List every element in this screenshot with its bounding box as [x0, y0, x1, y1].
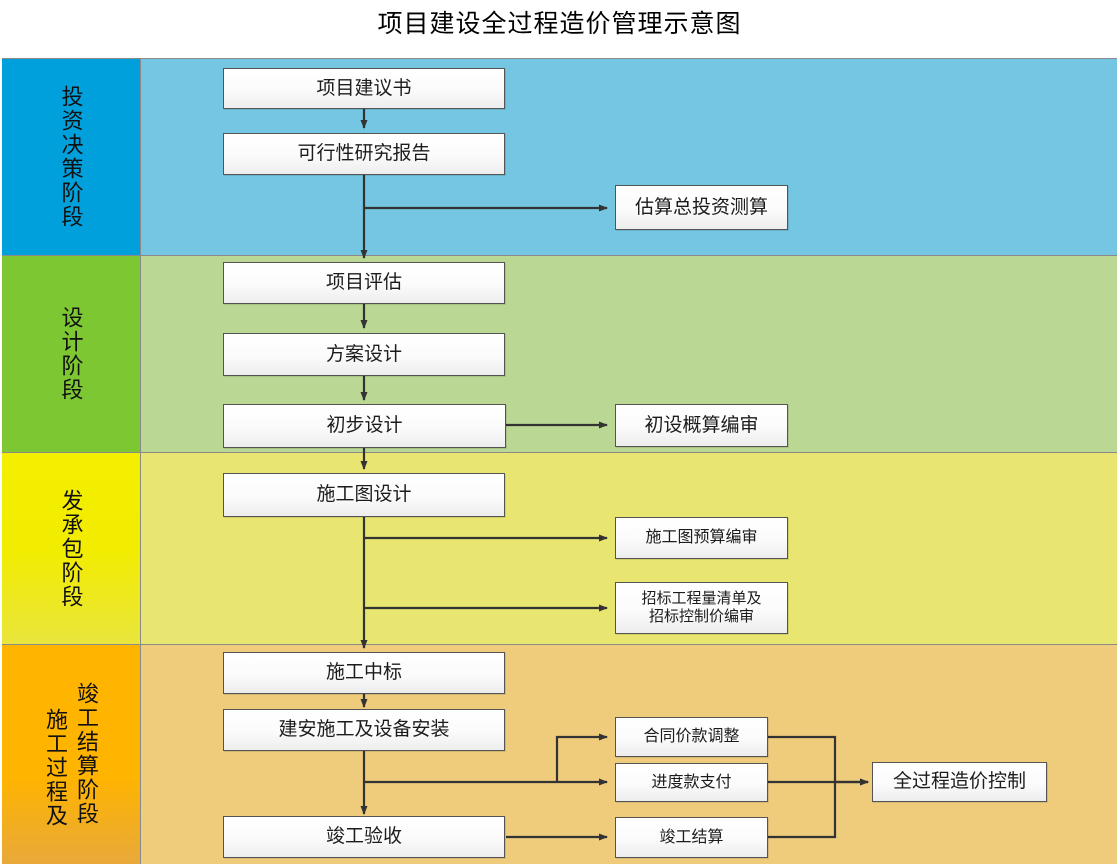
node-total-investment-estimate[interactable]: 估算总投资测算	[615, 185, 788, 230]
band-investment-decision: 投资决策阶段	[2, 59, 1117, 256]
node-project-evaluation[interactable]: 项目评估	[223, 262, 505, 304]
node-construction-and-equipment[interactable]: 建安施工及设备安装	[223, 709, 505, 751]
node-feasibility-report[interactable]: 可行性研究报告	[223, 133, 505, 175]
band-sidebar-investment-decision: 投资决策阶段	[2, 59, 141, 255]
band-contracting: 发承包阶段	[2, 453, 1117, 645]
node-tender-quantity-list-line2: 招标控制价编审	[649, 608, 754, 626]
band-sidebar-design: 设计阶段	[2, 256, 141, 452]
node-final-settlement[interactable]: 竣工结算	[615, 817, 768, 858]
node-completion-acceptance[interactable]: 竣工验收	[223, 816, 505, 858]
band-label-contracting: 发承包阶段	[56, 489, 85, 609]
diagram-canvas: 项目建设全过程造价管理示意图 投资决策阶段 设计阶段 发承包阶段 竣工结算阶段 …	[0, 0, 1119, 867]
node-construction-drawing-design[interactable]: 施工图设计	[223, 473, 505, 517]
node-contract-price-adjustment[interactable]: 合同价款调整	[615, 717, 768, 757]
node-tender-quantity-list-line1: 招标工程量清单及	[641, 590, 761, 608]
band-label-investment-decision: 投资决策阶段	[56, 85, 85, 229]
band-sidebar-contracting: 发承包阶段	[2, 453, 141, 644]
node-tender-quantity-list[interactable]: 招标工程量清单及 招标控制价编审	[615, 582, 788, 634]
band-label-col-settlement: 竣工结算阶段	[72, 682, 101, 826]
node-preliminary-budget-review[interactable]: 初设概算编审	[615, 404, 788, 447]
page-title: 项目建设全过程造价管理示意图	[0, 4, 1119, 40]
node-whole-process-cost-control[interactable]: 全过程造价控制	[872, 762, 1047, 802]
band-construction-settlement: 竣工结算阶段 施工过程及	[2, 645, 1117, 864]
node-project-proposal[interactable]: 项目建议书	[223, 68, 505, 109]
node-scheme-design[interactable]: 方案设计	[223, 333, 505, 376]
band-label-col-construction: 施工过程及	[41, 708, 70, 828]
band-label-construction-settlement: 竣工结算阶段 施工过程及	[41, 682, 101, 828]
node-drawing-budget-review[interactable]: 施工图预算编审	[615, 517, 788, 559]
node-progress-payment[interactable]: 进度款支付	[615, 763, 768, 802]
node-construction-bid-won[interactable]: 施工中标	[223, 652, 505, 694]
band-sidebar-construction-settlement: 竣工结算阶段 施工过程及	[2, 645, 141, 864]
band-design: 设计阶段	[2, 256, 1117, 453]
band-label-design: 设计阶段	[56, 306, 85, 402]
node-preliminary-design[interactable]: 初步设计	[223, 404, 506, 448]
